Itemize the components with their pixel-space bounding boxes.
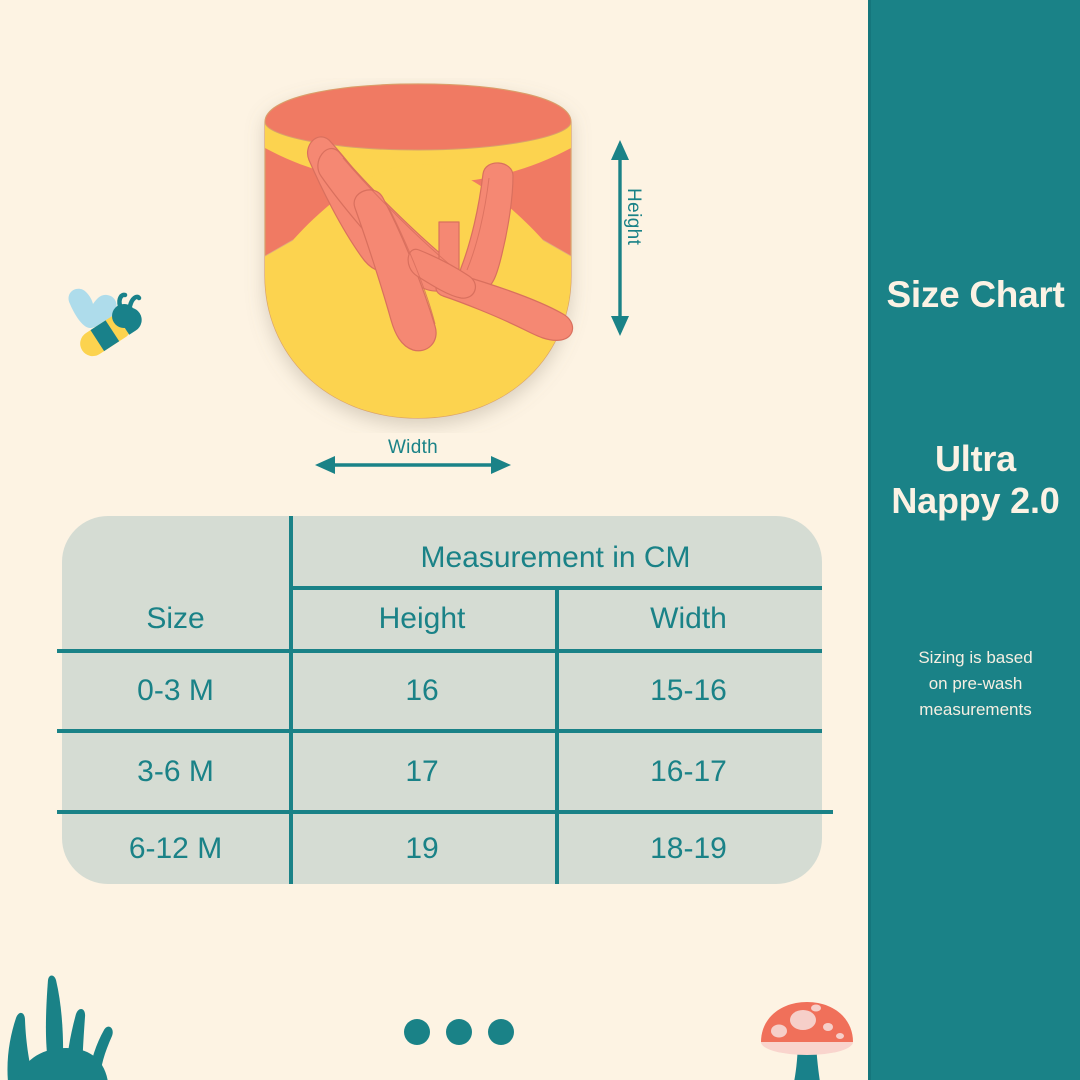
height-label: Height <box>622 188 644 245</box>
product-name-line-1: Ultra <box>871 438 1080 480</box>
sizing-note-line-2: on pre-wash <box>879 671 1072 697</box>
table-row: 17 <box>289 733 555 810</box>
product-name-line-2: Nappy 2.0 <box>871 480 1080 522</box>
table-row-divider-1 <box>57 729 822 733</box>
table-unit-header: Measurement in CM <box>289 530 822 586</box>
sizing-note-line-3: measurements <box>879 697 1072 723</box>
table-header-divider <box>57 649 822 653</box>
table-row: 18-19 <box>555 814 822 884</box>
table-row-divider-2 <box>57 810 833 814</box>
table-row: 3-6 M <box>62 733 289 810</box>
grass-icon <box>0 962 160 1080</box>
dot-separator <box>404 1018 514 1046</box>
table-row: 16-17 <box>555 733 822 810</box>
bee-icon <box>54 282 146 362</box>
table-header-size: Size <box>62 588 289 649</box>
product-name: Ultra Nappy 2.0 <box>871 438 1080 523</box>
mushroom-icon <box>748 996 868 1080</box>
table-row: 15-16 <box>555 653 822 729</box>
table-row: 0-3 M <box>62 653 289 729</box>
page-title: Size Chart <box>871 276 1080 315</box>
nappy-illustration <box>243 78 593 433</box>
table-row: 16 <box>289 653 555 729</box>
table-row: 6-12 M <box>62 814 289 884</box>
dot-2 <box>446 1019 472 1045</box>
table-header-height: Height <box>289 588 555 649</box>
sizing-note-line-1: Sizing is based <box>879 645 1072 671</box>
dot-1 <box>404 1019 430 1045</box>
size-table: Measurement in CM Size Height Width 0-3 … <box>62 516 822 884</box>
dot-3 <box>488 1019 514 1045</box>
sizing-note: Sizing is based on pre-wash measurements <box>879 645 1072 722</box>
width-measure-arrow <box>313 452 513 478</box>
table-row: 19 <box>289 814 555 884</box>
sidebar-panel: Size Chart Ultra Nappy 2.0 Sizing is bas… <box>868 0 1080 1080</box>
table-header-width: Width <box>555 588 822 649</box>
size-chart-page: Height Width Measurement in CM Size Heig… <box>0 0 1080 1080</box>
